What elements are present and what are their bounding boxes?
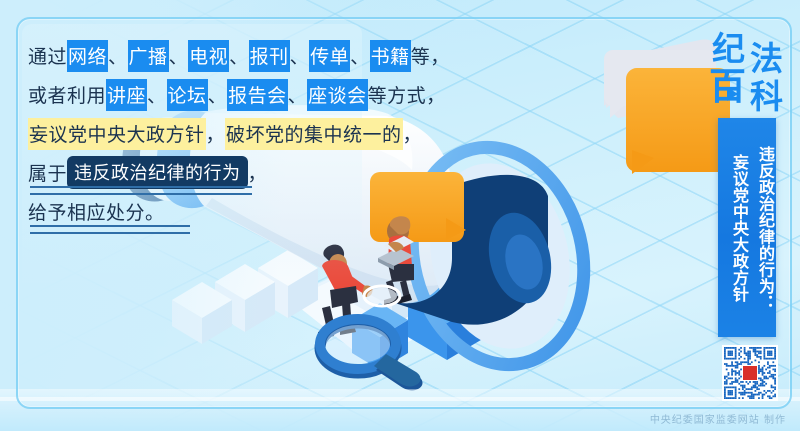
brand-logo[interactable]: 纪 法 百 科 xyxy=(700,30,792,122)
text-line-3: 妄议党中央大政方针，破坏党的集中统一的， xyxy=(28,114,448,153)
credit-text: 中央纪委国家监委网站 制作 xyxy=(650,411,786,426)
text-run: 给予相应处分。 xyxy=(28,198,165,225)
underline-line-4 xyxy=(30,186,252,195)
vertical-title-left: 妄议党中央大政方针 xyxy=(722,122,747,334)
red-emblem-icon xyxy=(742,365,758,381)
main-text-block: 通过网络、广播、电视、报刊、传单、书籍等， 或者利用讲座、论坛、报告会、座谈会等… xyxy=(28,36,448,231)
text-run: 或者利用 xyxy=(28,81,106,108)
highlight-blue-run: 讲座 xyxy=(106,79,147,111)
highlight-blue-run: 电视 xyxy=(188,40,229,72)
play-triangle-icon xyxy=(727,87,738,101)
text-run: 通过 xyxy=(28,42,67,69)
text-run: 属于 xyxy=(28,159,67,186)
vertical-title-right: 违反政治纪律的行为： xyxy=(748,122,773,334)
highlight-yellow-run: 破坏党的集中统一的 xyxy=(225,118,403,150)
text-run: 、 xyxy=(290,42,310,69)
text-line-1: 通过网络、广播、电视、报刊、传单、书籍等， xyxy=(28,36,448,75)
highlight-blue-run: 广播 xyxy=(128,40,169,72)
highlight-blue-run: 网络 xyxy=(67,40,108,72)
text-run: ， xyxy=(403,120,423,147)
text-run: ， xyxy=(206,120,226,147)
text-run: 等， xyxy=(411,42,450,69)
highlight-blue-run: 报刊 xyxy=(249,40,290,72)
highlight-blue-run: 传单 xyxy=(309,40,350,72)
text-run: 、 xyxy=(169,42,189,69)
text-run: 等方式， xyxy=(368,81,446,108)
logo-char-ke: 科 xyxy=(750,80,783,113)
text-run: ， xyxy=(248,159,268,186)
text-run: 、 xyxy=(208,81,228,108)
vertical-title-banner: 违反政治纪律的行为： 妄议党中央大政方针 xyxy=(718,118,776,337)
underline-line-5 xyxy=(30,225,190,234)
badge-run: 违反政治纪律的行为 xyxy=(67,156,248,189)
logo-char-fa: 法 xyxy=(750,42,783,75)
highlight-yellow-run: 妄议党中央大政方针 xyxy=(28,118,206,150)
text-run: 、 xyxy=(147,81,167,108)
logo-char-ji: 纪 xyxy=(712,32,745,65)
highlight-blue-run: 书籍 xyxy=(370,40,411,72)
text-line-2: 或者利用讲座、论坛、报告会、座谈会等方式， xyxy=(28,75,448,114)
text-run: 、 xyxy=(229,42,249,69)
text-run: 、 xyxy=(288,81,308,108)
text-run: 、 xyxy=(108,42,128,69)
qr-code[interactable] xyxy=(722,345,778,401)
poster-root: 通过网络、广播、电视、报刊、传单、书籍等， 或者利用讲座、论坛、报告会、座谈会等… xyxy=(0,0,800,431)
text-run: 、 xyxy=(350,42,370,69)
highlight-blue-run: 座谈会 xyxy=(307,79,368,111)
highlight-blue-run: 论坛 xyxy=(167,79,208,111)
highlight-blue-run: 报告会 xyxy=(227,79,288,111)
